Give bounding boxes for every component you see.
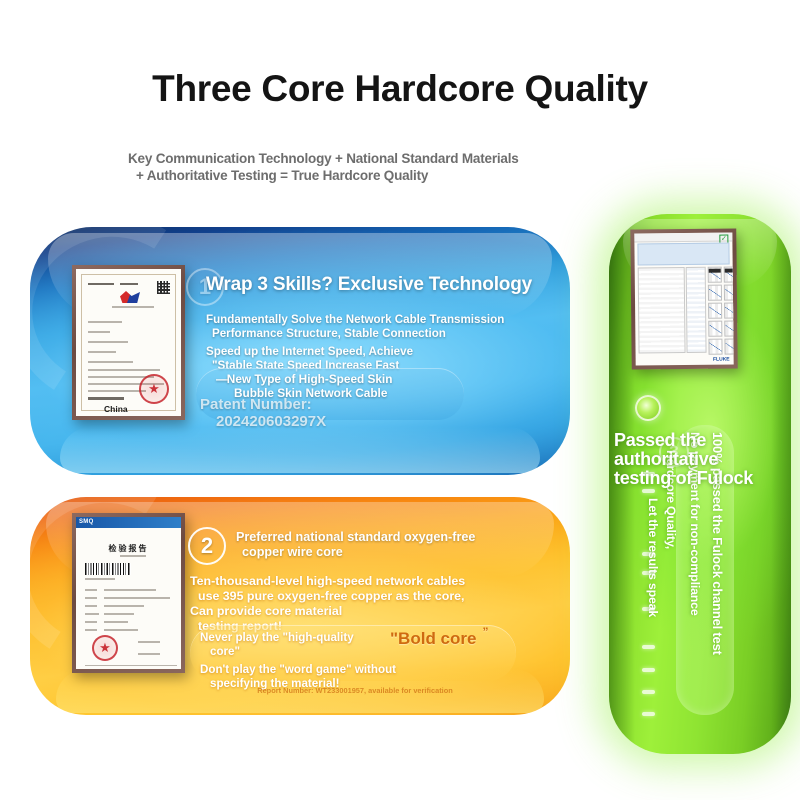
patent-label: Patent Number: bbox=[200, 396, 312, 413]
report-chart bbox=[708, 285, 722, 301]
report-results-table bbox=[638, 267, 686, 353]
report-number-note: Report Number: WT233001957, available fo… bbox=[190, 686, 520, 695]
patent-number: 202420603297X bbox=[200, 413, 480, 430]
doc-text-line bbox=[85, 629, 97, 631]
orange-head-line2: copper wire core bbox=[236, 545, 536, 560]
orange-panel-heading: Preferred national standard oxygen-free … bbox=[236, 530, 536, 560]
certificate-country-label: China bbox=[104, 404, 128, 414]
chart-header-bar bbox=[709, 269, 721, 273]
report-org-label: SMQ bbox=[79, 519, 94, 525]
fluke-logo: FLUKE bbox=[713, 357, 730, 363]
blue-pill-line1: New Type of High-Speed Skin bbox=[227, 372, 393, 386]
qr-code-icon bbox=[157, 281, 170, 294]
green-vertical-text-results: Let the results speak bbox=[646, 498, 660, 617]
report-values-table bbox=[686, 267, 707, 353]
indicator-tick bbox=[642, 668, 655, 672]
page-subtitle: Key Communication Technology + National … bbox=[128, 150, 688, 184]
doc-text-line bbox=[88, 361, 133, 363]
blue-body2-line1: Speed up the Internet Speed, Achieve bbox=[206, 345, 413, 358]
doc-text-line bbox=[104, 589, 156, 591]
doc-text-line bbox=[85, 665, 177, 666]
bold-core-text: "Bold core bbox=[390, 629, 476, 648]
blue-panel-heading: Wrap 3 Skills? Exclusive Technology bbox=[206, 274, 536, 296]
indicator-tick bbox=[642, 690, 655, 694]
doc-text-line bbox=[85, 597, 97, 599]
page-title: Three Core Hardcore Quality bbox=[0, 68, 800, 110]
report-chart bbox=[724, 338, 733, 354]
doc-text-line bbox=[104, 629, 138, 631]
gloss-highlight-bottom bbox=[60, 427, 540, 473]
doc-text-line bbox=[88, 369, 160, 371]
blue-body1-line1: Fundamentally Solve the Network Cable Tr… bbox=[206, 313, 504, 326]
doc-text-line bbox=[104, 613, 134, 615]
bold-core-callout: "Bold core ” bbox=[390, 629, 476, 649]
doc-text-line bbox=[138, 641, 160, 643]
inspection-red-seal-icon bbox=[92, 635, 118, 661]
fluke-test-report-image[interactable]: ✓ FLUKE bbox=[630, 228, 737, 369]
header: Three Core Hardcore Quality Key Communic… bbox=[0, 0, 800, 200]
report-chart bbox=[724, 302, 734, 318]
doc-text-line bbox=[88, 331, 110, 333]
certificate-paper: China bbox=[76, 269, 181, 416]
report-chart bbox=[724, 320, 733, 336]
doc-text-line bbox=[85, 589, 97, 591]
official-red-seal-icon bbox=[139, 374, 169, 404]
doc-text-line bbox=[104, 597, 170, 599]
report-chart bbox=[708, 321, 722, 337]
orange-pill-line1: Never play the "high-quality bbox=[200, 631, 354, 644]
blue-body1-line2: Performance Structure, Stable Connection bbox=[206, 327, 546, 341]
orange-pill-line3: Don't play the "word game" without bbox=[200, 663, 410, 677]
barcode-icon bbox=[85, 563, 131, 575]
doc-text-line bbox=[88, 390, 146, 392]
doc-text-line bbox=[88, 351, 116, 353]
report-chart bbox=[708, 303, 722, 319]
report-top-strip bbox=[634, 232, 732, 242]
orange-head-line1: Preferred national standard oxygen-free bbox=[236, 530, 475, 544]
orange-body-line1: Ten-thousand-level high-speed network ca… bbox=[190, 574, 465, 588]
orange-body-line2: use 395 pure oxygen-free copper as the c… bbox=[190, 589, 540, 604]
orange-pill-line2: core" bbox=[200, 645, 410, 659]
orange-pill-text: Never play the "high-quality core" Don't… bbox=[200, 631, 410, 691]
report-chart bbox=[708, 339, 722, 355]
doc-text-line bbox=[85, 578, 115, 580]
report-title-cn: 检验报告 bbox=[76, 543, 181, 554]
blue-panel-body-1: Fundamentally Solve the Network Cable Tr… bbox=[206, 313, 546, 341]
green-head-line2: testing of Fulock bbox=[614, 469, 800, 488]
doc-text-line bbox=[85, 605, 97, 607]
inspection-report-image[interactable]: SMQ 检验报告 bbox=[72, 513, 185, 673]
subtitle-line-2: + Authoritative Testing = True Hardcore … bbox=[128, 167, 688, 184]
status-led-icon bbox=[635, 395, 661, 421]
green-head-line1: Passed the authoritative bbox=[614, 430, 718, 469]
chart-header-bar bbox=[725, 268, 734, 272]
doc-text-line bbox=[85, 621, 97, 623]
subtitle-line-1: Key Communication Technology + National … bbox=[128, 151, 519, 166]
doc-text-line bbox=[104, 621, 128, 623]
test-report-paper: ✓ FLUKE bbox=[634, 232, 733, 365]
indicator-tick bbox=[642, 712, 655, 716]
doc-text-line bbox=[88, 321, 122, 323]
bold-core-closing-quote: ” bbox=[482, 625, 488, 639]
doc-text-line bbox=[120, 283, 138, 285]
doc-text-line bbox=[112, 306, 154, 308]
doc-text-line bbox=[88, 397, 124, 400]
report-summary-band bbox=[637, 243, 729, 266]
report-chart bbox=[724, 284, 734, 300]
doc-text-line bbox=[120, 555, 146, 557]
patent-number-block: Patent Number: 202420603297X bbox=[200, 396, 480, 430]
orange-body-line3: Can provide core material bbox=[190, 604, 540, 619]
green-panel-heading: Passed the authoritative testing of Fulo… bbox=[614, 431, 800, 488]
doc-text-line bbox=[104, 605, 144, 607]
doc-text-line bbox=[85, 613, 99, 615]
patent-certificate-image[interactable]: China bbox=[72, 265, 185, 420]
bullet-dash: — bbox=[216, 372, 227, 386]
doc-text-line bbox=[138, 653, 160, 655]
report-paper: SMQ 检验报告 bbox=[76, 517, 181, 669]
indicator-tick bbox=[642, 489, 655, 493]
indicator-tick bbox=[642, 645, 655, 649]
doc-text-line bbox=[88, 341, 128, 343]
step-badge-2: 2 bbox=[188, 527, 226, 565]
doc-text-line bbox=[88, 283, 114, 285]
